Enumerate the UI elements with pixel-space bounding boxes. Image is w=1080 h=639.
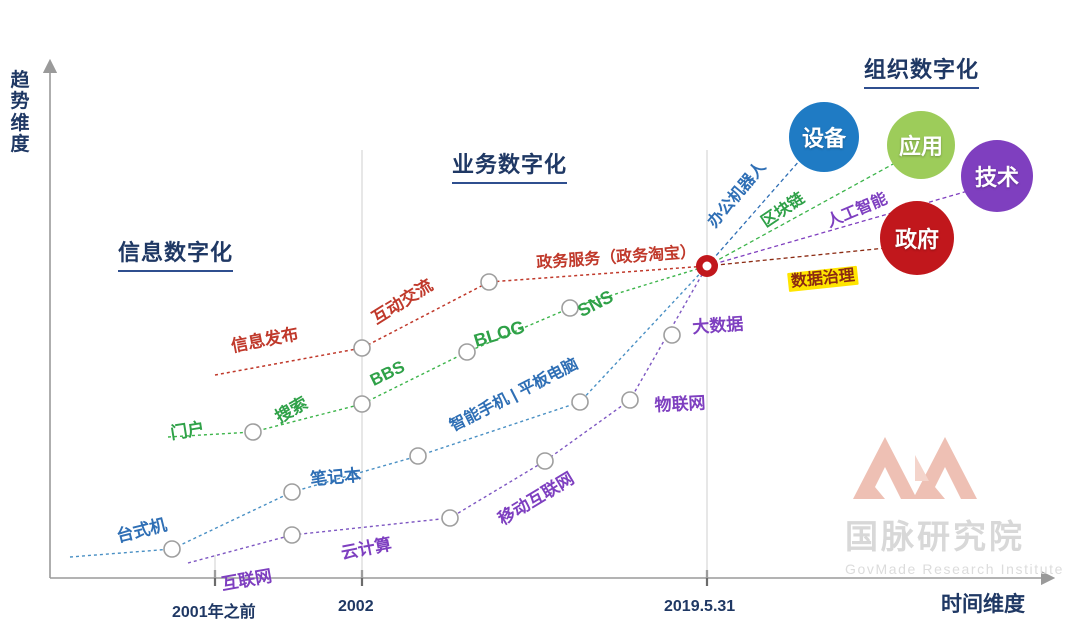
bubble-equipment[interactable]: 设备	[789, 102, 859, 172]
bubble-technology[interactable]: 技术	[961, 140, 1033, 212]
watermark: 国脉研究院 GovMade Research Institute	[845, 425, 1064, 577]
series-government-service	[215, 266, 707, 375]
digital-transformation-trend-chart: 信息数字化 业务数字化 组织数字化 趋 势 维 度 时间维度 2001年之前 2…	[0, 0, 1080, 639]
section-title-organization-digitalization: 组织数字化	[864, 52, 979, 89]
bubble-application-label: 应用	[899, 129, 943, 161]
x-tick-2001: 2001年之前	[172, 598, 256, 622]
section-title-business-digitalization: 业务数字化	[452, 147, 567, 184]
watermark-en: GovMade Research Institute	[845, 561, 1064, 577]
watermark-logo-icon	[845, 425, 995, 505]
bubble-government-label: 政府	[895, 222, 939, 254]
section-title-information-digitalization: 信息数字化	[118, 235, 233, 272]
series-terminal-devices-nodes	[164, 394, 588, 557]
x-tick-2002: 2002	[338, 598, 374, 616]
label-big-data: 大数据	[692, 315, 744, 336]
x-axis-title: 时间维度	[941, 588, 1025, 618]
watermark-cn: 国脉研究院	[845, 510, 1064, 558]
y-axis-title: 趋 势 维 度	[8, 70, 32, 155]
label-iot: 物联网	[654, 394, 706, 414]
x-tick-2019: 2019.5.31	[664, 598, 735, 616]
bubble-equipment-label: 设备	[802, 121, 846, 153]
convergence-point[interactable]	[696, 255, 718, 277]
label-laptop: 笔记本	[310, 467, 362, 488]
bubble-application[interactable]: 应用	[887, 111, 955, 179]
bubble-technology-label: 技术	[975, 160, 1019, 192]
bubble-government[interactable]: 政府	[880, 201, 954, 275]
